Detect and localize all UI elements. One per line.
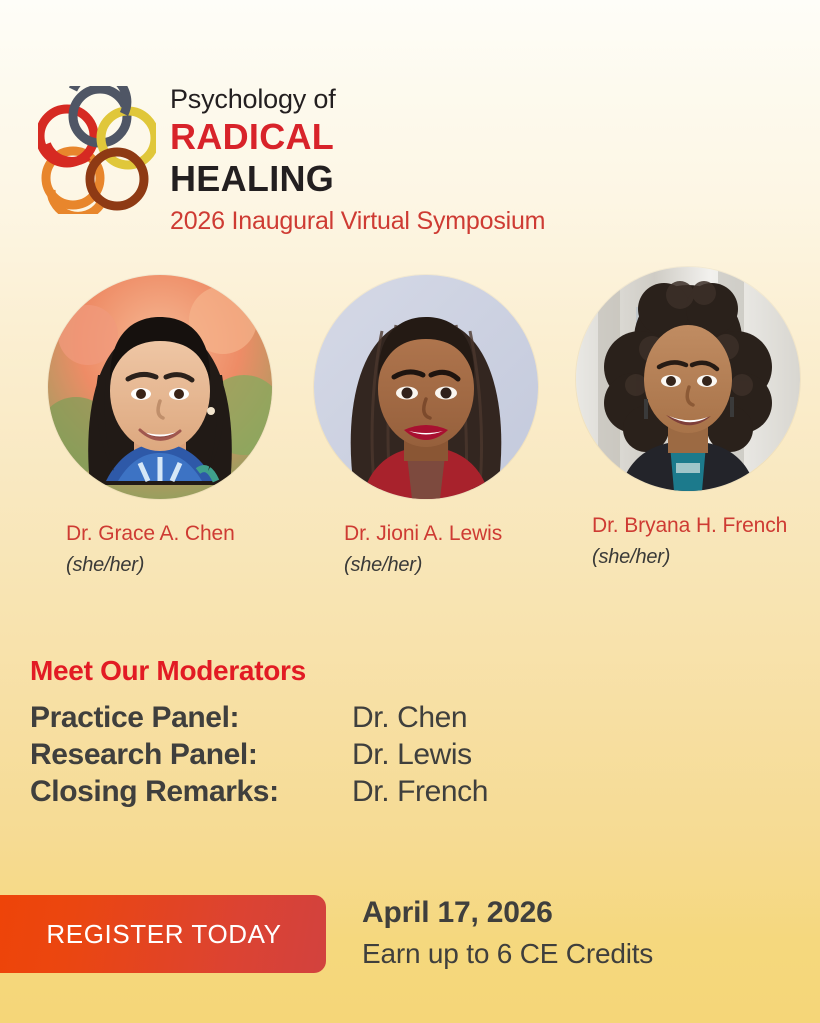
speaker-card-3: Dr. Bryana H. French (she/her) — [570, 267, 820, 572]
speaker-card-1: Dr. Grace A. Chen (she/her) — [42, 275, 292, 580]
moderator-row-closing-remarks: Closing Remarks: Dr. French — [30, 775, 590, 809]
avatar-jioni-lewis — [314, 275, 538, 499]
event-details: April 17, 2026 Earn up to 6 CE Credits — [362, 893, 802, 972]
register-today-button[interactable]: REGISTER TODAY — [0, 895, 326, 973]
logo-line-healing: HEALING — [170, 158, 545, 200]
speaker-pronouns-3: (she/her) — [592, 542, 820, 572]
logo-line-radical: RADICAL — [170, 116, 545, 158]
speaker-pronouns-1: (she/her) — [66, 550, 292, 580]
moderator-label-closing-remarks: Closing Remarks: — [30, 775, 352, 809]
avatar-bryana-french — [576, 267, 800, 491]
moderators-heading: Meet Our Moderators — [30, 655, 590, 687]
five-interlocking-rings-flower-logo — [38, 86, 156, 214]
speaker-card-2: Dr. Jioni A. Lewis (she/her) — [308, 275, 558, 580]
symposium-poster: Psychology of RADICAL HEALING 2026 Inaug… — [0, 0, 820, 1023]
moderator-name-practice-panel: Dr. Chen — [352, 701, 467, 735]
logo-wordmark: Psychology of RADICAL HEALING 2026 Inaug… — [170, 82, 545, 238]
avatar-grace-chen — [48, 275, 272, 499]
moderator-row-research-panel: Research Panel: Dr. Lewis — [30, 738, 590, 772]
speaker-name-3: Dr. Bryana H. French — [592, 511, 792, 542]
poster-footer: REGISTER TODAY April 17, 2026 Earn up to… — [0, 885, 820, 985]
logo-line-psychology-of: Psychology of — [170, 84, 545, 116]
moderator-name-closing-remarks: Dr. French — [352, 775, 488, 809]
logo-line-symposium-subtitle: 2026 Inaugural Virtual Symposium — [170, 205, 545, 238]
speaker-name-2: Dr. Jioni A. Lewis — [344, 519, 544, 550]
speakers-section: Dr. Grace A. Chen (she/her) — [0, 275, 820, 640]
moderators-section: Meet Our Moderators Practice Panel: Dr. … — [30, 655, 590, 812]
speaker-pronouns-2: (she/her) — [344, 550, 558, 580]
speaker-name-1: Dr. Grace A. Chen — [66, 519, 266, 550]
moderator-name-research-panel: Dr. Lewis — [352, 738, 472, 772]
poster-header: Psychology of RADICAL HEALING 2026 Inaug… — [0, 0, 820, 250]
ce-credits-text: Earn up to 6 CE Credits — [362, 935, 802, 973]
moderator-row-practice-panel: Practice Panel: Dr. Chen — [30, 701, 590, 735]
moderator-label-practice-panel: Practice Panel: — [30, 701, 352, 735]
event-date: April 17, 2026 — [362, 893, 802, 933]
moderator-label-research-panel: Research Panel: — [30, 738, 352, 772]
